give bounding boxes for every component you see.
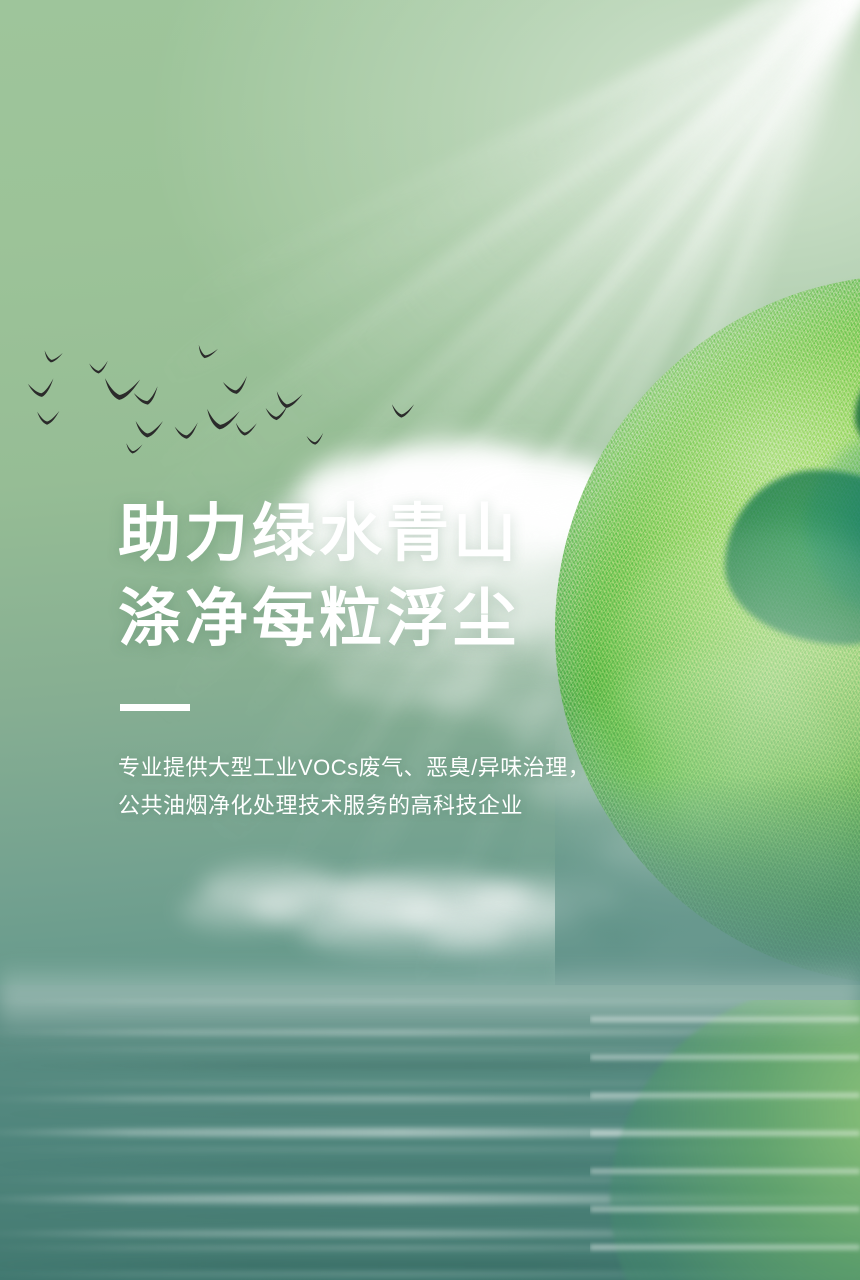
headline-line-2: 涤净每粒浮尘: [118, 577, 678, 662]
bird-icon: [103, 376, 140, 402]
divider-bar: [120, 704, 190, 711]
bird-icon: [42, 349, 62, 364]
bird-icon: [174, 422, 199, 439]
bird-icon: [274, 389, 303, 410]
bird-icon: [196, 344, 218, 361]
bird-icon: [89, 361, 109, 374]
cloud-puff: [180, 890, 300, 930]
bird-icon: [135, 419, 163, 438]
subtitle-line-2: 公共油烟净化处理技术服务的高科技企业: [118, 787, 678, 825]
bird-icon: [391, 403, 414, 419]
bird-icon: [133, 386, 160, 407]
reflection-ripple-bands: [590, 1000, 860, 1280]
hero-text-block: 助力绿水青山 涤净每粒浮尘 专业提供大型工业VOCs废气、恶臭/异味治理， 公共…: [118, 492, 678, 825]
bird-icon: [205, 407, 240, 432]
bird-icon: [37, 410, 60, 425]
subtitle-line-1: 专业提供大型工业VOCs废气、恶臭/异味治理，: [118, 749, 678, 787]
bird-icon: [125, 442, 142, 455]
eco-hero-poster: 助力绿水青山 涤净每粒浮尘 专业提供大型工业VOCs废气、恶臭/异味治理， 公共…: [0, 0, 860, 1280]
headline-line-1: 助力绿水青山: [118, 492, 678, 577]
bird-icon: [28, 378, 56, 398]
bird-icon: [223, 376, 250, 396]
bird-icon: [306, 433, 324, 446]
bird-icon: [266, 405, 289, 420]
horizon-mist: [0, 960, 860, 1040]
globe-water-reflection: [590, 1000, 860, 1280]
flying-birds-flock: [0, 330, 470, 460]
bird-icon: [235, 421, 257, 436]
